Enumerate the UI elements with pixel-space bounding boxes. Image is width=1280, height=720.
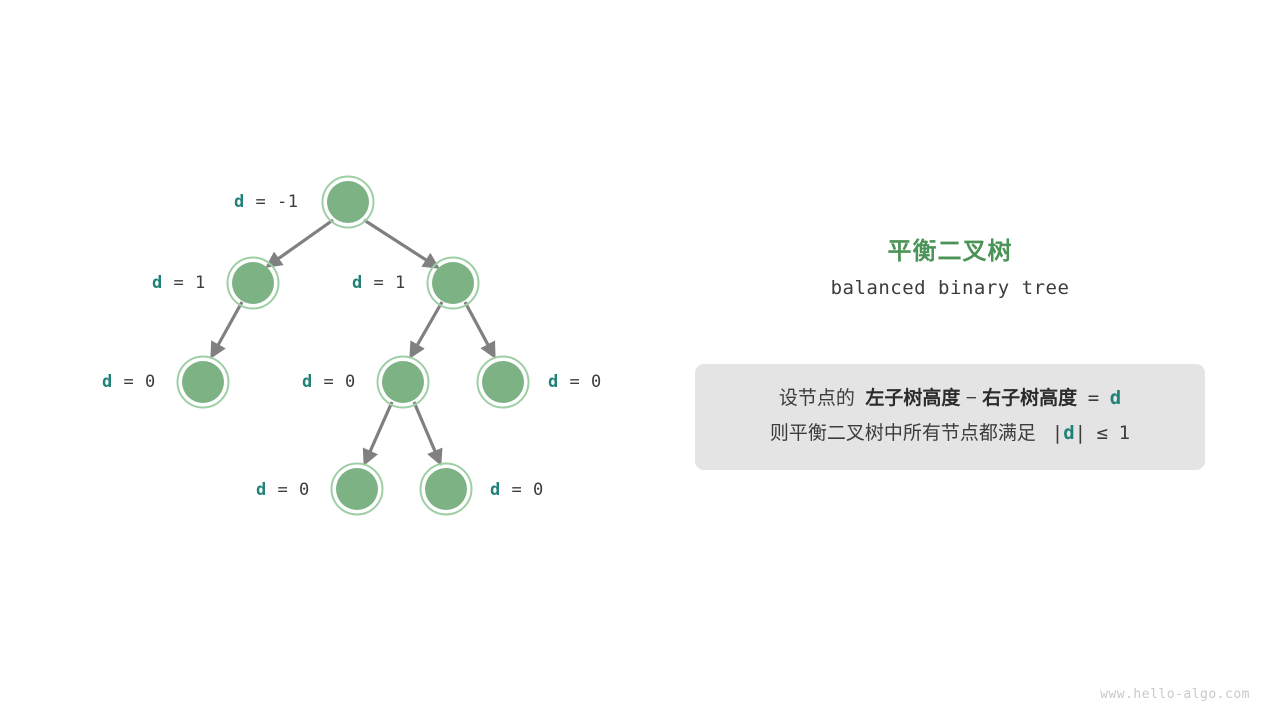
balance-value: = 1 — [363, 273, 406, 293]
balance-value: = 0 — [113, 372, 156, 392]
tree-node — [378, 357, 429, 408]
edge-n4-n6 — [365, 402, 392, 463]
tree-graphics — [0, 0, 660, 720]
variable-d: d — [490, 480, 501, 500]
edge-n1-n3 — [212, 302, 242, 356]
variable-d: d — [256, 480, 267, 500]
info-panel: 平衡二叉树 balanced binary tree 设节点的 左子树高度 − … — [695, 0, 1205, 720]
tree-edges — [212, 220, 494, 463]
tree-node — [421, 464, 472, 515]
balance-value: = 0 — [559, 372, 602, 392]
binary-tree-diagram: d = -1 d = 1 d = 1 d = 0 d = 0 d = 0 d =… — [0, 0, 660, 720]
abs-bar-close: | — [1075, 422, 1086, 444]
balance-factor-label-leaf-4: d = 0 — [490, 480, 544, 500]
tree-node — [323, 177, 374, 228]
balance-value: = 0 — [313, 372, 356, 392]
balance-factor-label-right-child: d = 1 — [352, 273, 406, 293]
tree-node — [478, 357, 529, 408]
tree-node — [428, 258, 479, 309]
right-subtree-height-term: 右子树高度 — [982, 388, 1077, 409]
definition-box: 设节点的 左子树高度 − 右子树高度 = d 则平衡二叉树中所有节点都满足 |d… — [695, 364, 1205, 470]
edge-n4-n7 — [414, 402, 440, 463]
variable-d: d — [102, 372, 113, 392]
relation-sign: ≤ — [1097, 422, 1108, 444]
panel-title: 平衡二叉树 — [695, 231, 1205, 266]
tree-node — [178, 357, 229, 408]
variable-d: d — [352, 273, 363, 293]
balance-value: = 1 — [163, 273, 206, 293]
bound-value: 1 — [1119, 422, 1130, 444]
edge-n2-n5 — [465, 302, 494, 356]
variable-d: d — [234, 192, 245, 212]
left-subtree-height-term: 左子树高度 — [865, 388, 960, 409]
tree-node — [332, 464, 383, 515]
definition-prefix: 设节点的 — [779, 388, 855, 409]
watermark: www.hello-algo.com — [1100, 687, 1250, 702]
balance-value: = -1 — [245, 192, 299, 212]
tree-node — [228, 258, 279, 309]
minus-sign: − — [966, 388, 977, 409]
balance-value: = 0 — [267, 480, 310, 500]
balance-factor-label-root: d = -1 — [234, 192, 298, 212]
variable-d: d — [1110, 387, 1121, 409]
balance-factor-label-leaf-2: d = 0 — [548, 372, 602, 392]
variable-d: d — [152, 273, 163, 293]
edge-n2-n4 — [411, 302, 442, 356]
edge-n0-n1 — [268, 220, 333, 266]
variable-d: d — [548, 372, 559, 392]
tree-nodes — [178, 177, 529, 515]
balance-value: = 0 — [501, 480, 544, 500]
variable-d: d — [1063, 422, 1074, 444]
edge-n0-n2 — [364, 220, 437, 267]
balance-factor-label-inner-1: d = 0 — [302, 372, 356, 392]
balance-factor-label-leaf-3: d = 0 — [256, 480, 310, 500]
definition-line-1: 设节点的 左子树高度 − 右子树高度 = d — [695, 381, 1205, 416]
equals-sign: = — [1088, 387, 1099, 409]
balance-factor-label-leaf-1: d = 0 — [102, 372, 156, 392]
abs-bar-open: | — [1052, 422, 1063, 444]
definition-line-2: 则平衡二叉树中所有节点都满足 |d| ≤ 1 — [695, 416, 1205, 451]
condition-prefix: 则平衡二叉树中所有节点都满足 — [770, 423, 1036, 444]
variable-d: d — [302, 372, 313, 392]
balance-factor-label-left-child: d = 1 — [152, 273, 206, 293]
panel-subtitle: balanced binary tree — [695, 277, 1205, 299]
